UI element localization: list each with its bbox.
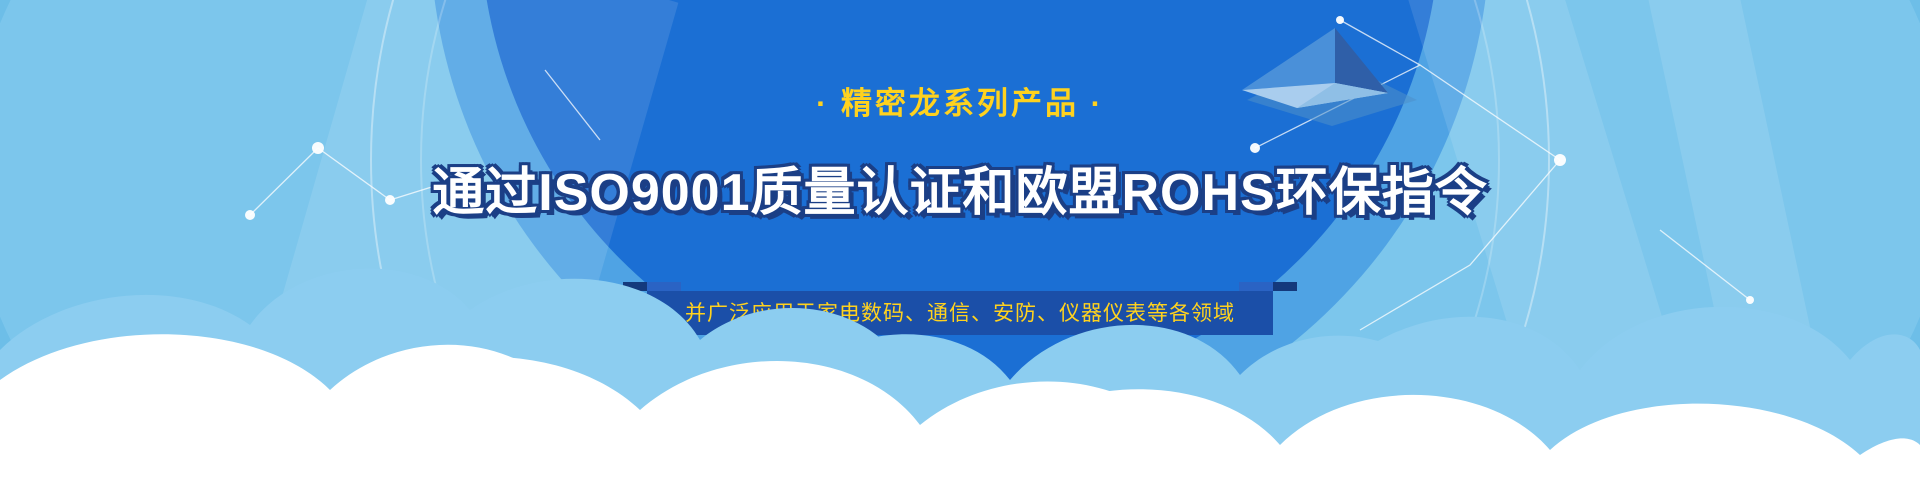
promo-banner: · 精密龙系列产品 · 通过ISO9001质量认证和欧盟ROHS环保指令 并广泛… — [0, 0, 1920, 480]
cloud-decoration — [0, 230, 1920, 480]
banner-headline: 通过ISO9001质量认证和欧盟ROHS环保指令 — [0, 150, 1920, 225]
banner-eyebrow: · 精密龙系列产品 · — [0, 78, 1920, 123]
